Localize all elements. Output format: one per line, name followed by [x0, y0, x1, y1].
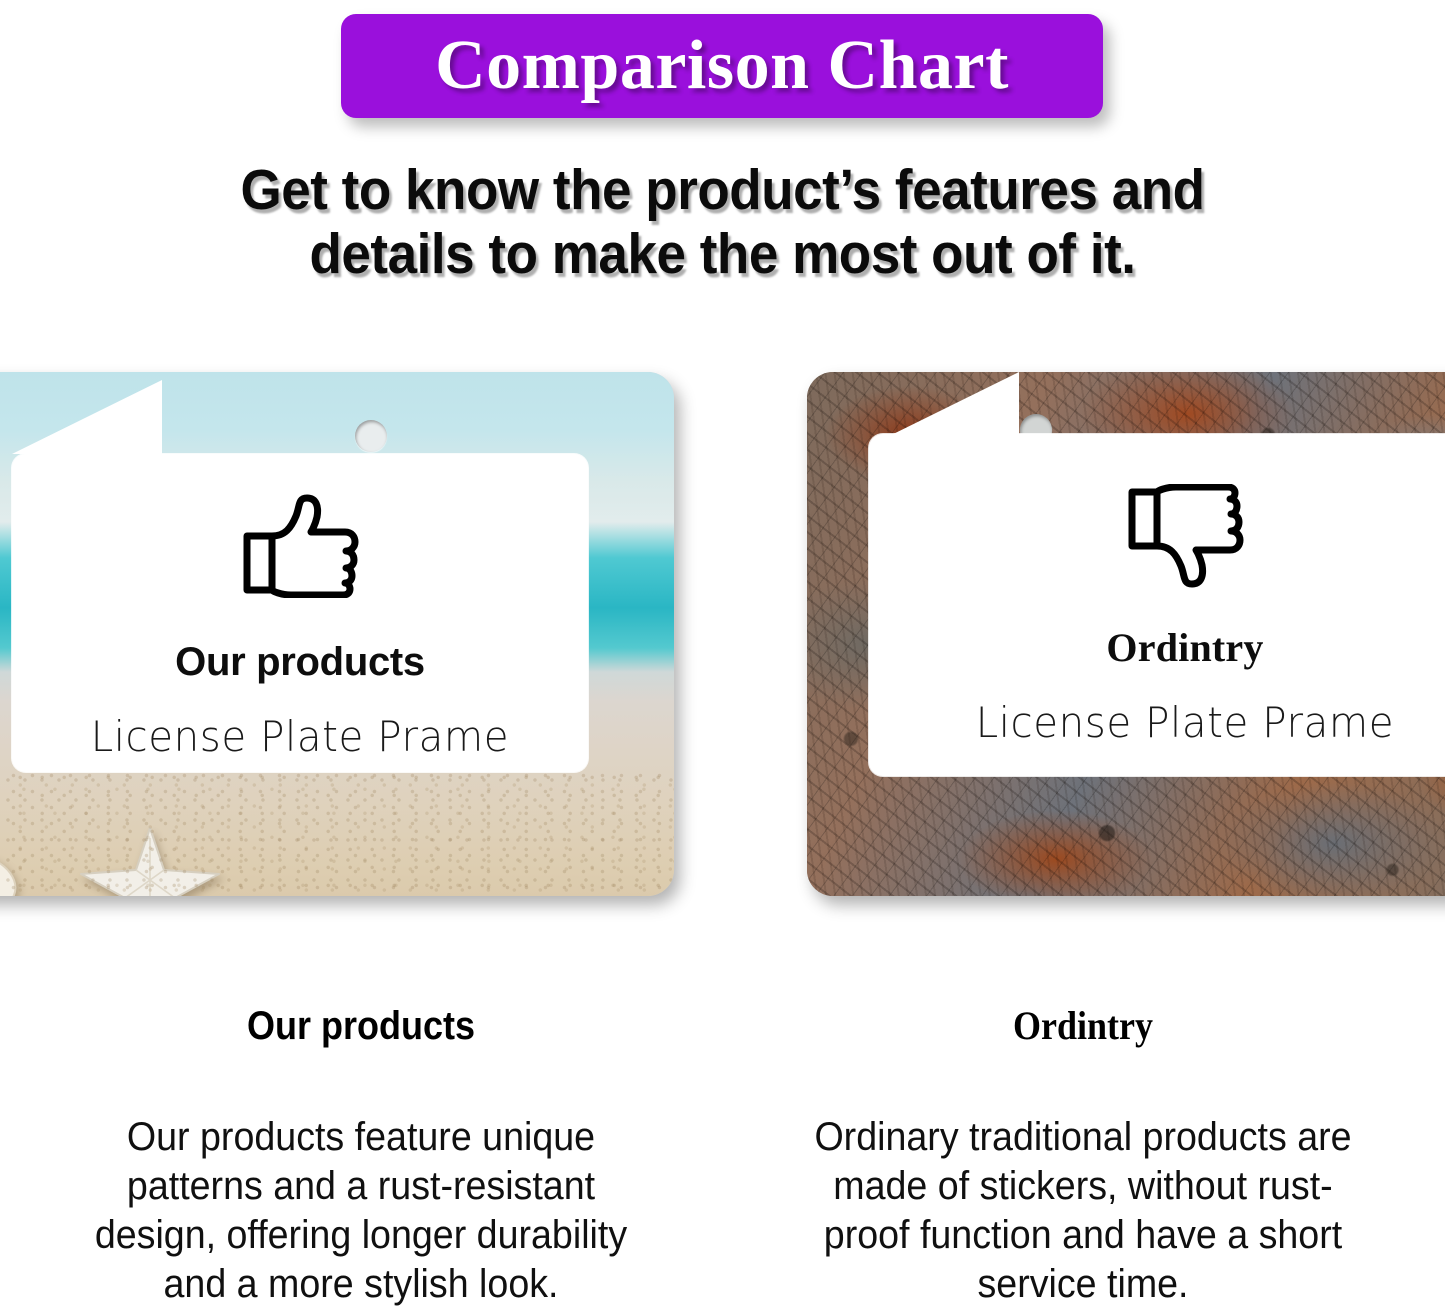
license-plate-frame-theirs: Ordintry License Plate Prame [807, 372, 1445, 896]
conch-shell-icon [0, 842, 22, 896]
plate-window-ours: Our products License Plate Prame [12, 454, 588, 772]
thumbs-down-icon [1126, 484, 1244, 588]
our-product-frame-card: Our products License Plate Prame [0, 362, 686, 914]
details-heading-ours: Our products [36, 1006, 686, 1046]
details-row: Our products Our products feature unique… [0, 975, 1445, 1314]
page-subtitle: Get to know the product’s features and d… [0, 158, 1445, 286]
license-plate-frame-ours: Our products License Plate Prame [0, 372, 674, 896]
brand-label-ours: Our products [175, 642, 425, 682]
details-heading-theirs: Ordintry [758, 1006, 1408, 1046]
thumbs-up-icon [241, 494, 359, 598]
subtitle-line-1: Get to know the product’s features and [51, 158, 1395, 222]
plate-window-theirs: Ordintry License Plate Prame [869, 434, 1445, 776]
product-name-theirs: License Plate Prame [976, 702, 1394, 744]
details-body-theirs: Ordinary traditional products are made o… [792, 1113, 1375, 1309]
subtitle-line-2: details to make the most out of it. [51, 222, 1395, 286]
starfish-icon [76, 824, 226, 896]
product-name-ours: License Plate Prame [91, 716, 509, 758]
details-column-theirs: Ordintry Ordinary traditional products a… [722, 975, 1444, 1314]
details-column-ours: Our products Our products feature unique… [0, 975, 722, 1314]
mounting-hole [355, 420, 387, 452]
details-body-ours: Our products feature unique patterns and… [70, 1113, 653, 1309]
page-header: Comparison Chart Get to know the product… [0, 0, 1445, 300]
page-title: Comparison Chart [435, 31, 1009, 101]
title-banner: Comparison Chart [341, 14, 1103, 118]
ordinary-product-frame-card: Ordintry License Plate Prame [795, 362, 1445, 914]
brand-label-theirs: Ordintry [1106, 628, 1263, 668]
product-frames-row: Our products License Plate Prame [0, 362, 1445, 922]
